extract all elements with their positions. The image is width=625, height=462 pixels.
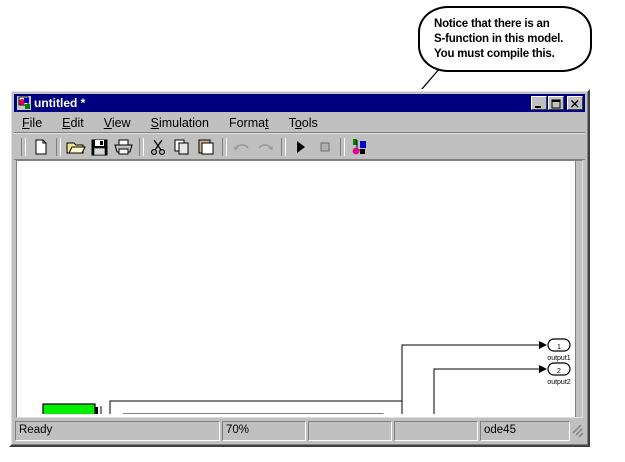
- simulink-model-window: untitled * File Edit View Simulation For…: [9, 89, 590, 447]
- output-port-2[interactable]: 2 output2: [539, 363, 571, 386]
- redo-icon[interactable]: [254, 136, 277, 158]
- maximize-button[interactable]: [548, 96, 564, 110]
- output-port-1-label: output1: [547, 355, 570, 362]
- minimize-button[interactable]: [531, 96, 547, 110]
- stop-simulation-icon[interactable]: [313, 136, 336, 158]
- toolbar-separator: [139, 138, 144, 156]
- callout-line-3: You must compile this.: [434, 47, 580, 62]
- print-icon[interactable]: [112, 136, 135, 158]
- toolbar-separator: [281, 138, 286, 156]
- resize-grip-icon[interactable]: [570, 421, 584, 441]
- menu-simulation[interactable]: Simulation: [151, 116, 209, 130]
- source-block[interactable]: (1): [43, 404, 98, 414]
- callout-line-1: Notice that there is an: [434, 17, 580, 32]
- menu-view[interactable]: View: [104, 116, 131, 130]
- output-port-1[interactable]: 1 output1: [539, 339, 571, 362]
- status-empty-2: [394, 421, 478, 441]
- paste-icon[interactable]: [195, 136, 218, 158]
- output-port-2-number: 2: [557, 368, 561, 375]
- model-canvas[interactable]: (1) Control Law (2): [16, 160, 583, 418]
- save-icon[interactable]: [88, 136, 111, 158]
- block-diagram[interactable]: (1) Control Law (2): [17, 161, 581, 414]
- toolbar: [14, 133, 585, 160]
- simulink-model-icon: [17, 96, 31, 110]
- new-model-icon[interactable]: [29, 136, 52, 158]
- window-inner-frame: untitled * File Edit View Simulation For…: [11, 91, 588, 445]
- status-empty-1: [308, 421, 392, 441]
- menu-edit[interactable]: Edit: [62, 116, 84, 130]
- model-browser-icon[interactable]: [348, 136, 371, 158]
- copy-icon[interactable]: [171, 136, 194, 158]
- output-port-1-number: 1: [557, 344, 561, 351]
- menu-bar: File Edit View Simulation Format Tools: [14, 113, 585, 133]
- menu-tools[interactable]: Tools: [289, 116, 318, 130]
- status-zoom: 70%: [222, 421, 306, 441]
- status-message: Ready: [15, 421, 220, 441]
- start-simulation-icon[interactable]: [289, 136, 312, 158]
- toolbar-separator: [56, 138, 61, 156]
- window-title: untitled *: [34, 96, 530, 110]
- undo-icon[interactable]: [230, 136, 253, 158]
- title-bar[interactable]: untitled *: [14, 94, 585, 112]
- status-bar: Ready 70% ode45: [15, 421, 584, 441]
- menu-file[interactable]: File: [22, 116, 42, 130]
- toolbar-separator: [21, 138, 26, 156]
- cut-icon[interactable]: [147, 136, 170, 158]
- canvas-vertical-scrollbar[interactable]: [575, 161, 582, 417]
- output-port-2-label: output2: [547, 379, 570, 386]
- menu-file-label-rest: ile: [30, 116, 43, 130]
- menu-format[interactable]: Format: [229, 116, 269, 130]
- toolbar-separator: [340, 138, 345, 156]
- toolbar-separator: [222, 138, 227, 156]
- callout-balloon: Notice that there is an S-function in th…: [418, 6, 592, 72]
- callout-line-2: S-function in this model.: [434, 32, 580, 47]
- close-button[interactable]: [567, 96, 583, 110]
- open-model-icon[interactable]: [64, 136, 87, 158]
- status-solver: ode45: [480, 421, 570, 441]
